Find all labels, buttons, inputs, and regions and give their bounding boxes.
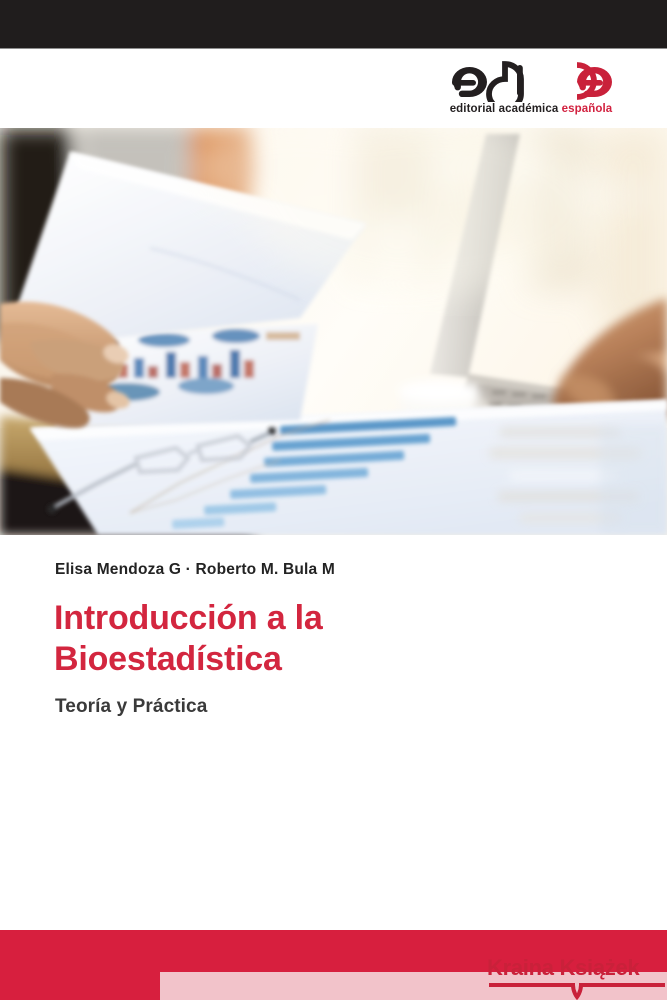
cover-photograph	[0, 128, 667, 535]
subtitle: Teoría y Práctica	[55, 696, 207, 718]
book-cover: editorial académica española	[0, 0, 667, 1000]
open-book-icon	[489, 983, 665, 1000]
watermark-text: Kraina Książek	[487, 955, 667, 981]
watermark: Kraina Książek	[487, 955, 667, 1000]
publisher-logo: editorial académica española	[443, 56, 619, 122]
eae-logo-icon	[443, 56, 619, 102]
publisher-name-red: española	[562, 103, 613, 115]
top-bar-divider	[0, 48, 667, 49]
publisher-name: editorial académica española	[443, 103, 619, 115]
page-title: Introducción a la Bioestadística	[54, 598, 614, 680]
title-line-1: Introducción a la	[54, 598, 614, 639]
authors-line: Elisa Mendoza G · Roberto M. Bula M	[55, 561, 335, 579]
title-line-2: Bioestadística	[54, 639, 614, 680]
photo-illustration	[0, 128, 667, 535]
publisher-name-dark: editorial académica	[450, 103, 559, 115]
top-dark-bar	[0, 0, 667, 48]
